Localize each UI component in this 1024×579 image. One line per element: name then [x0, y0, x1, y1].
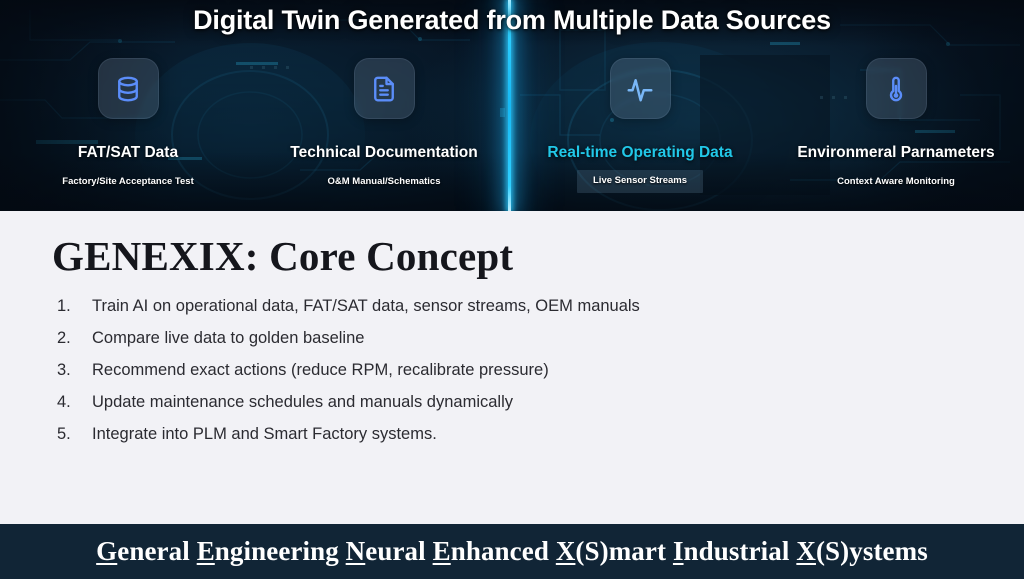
hero-title: Digital Twin Generated from Multiple Dat…	[0, 5, 1024, 36]
thermometer-icon	[866, 58, 927, 119]
database-icon	[98, 58, 159, 119]
card-title: Environmeral Parnameters	[797, 144, 994, 162]
list-item: 4. Update maintenance schedules and manu…	[52, 393, 952, 425]
pulse-waveform-icon	[610, 58, 671, 119]
list-item-number: 5.	[52, 425, 92, 444]
card-subtitle: O&M Manual/Schematics	[319, 173, 450, 190]
list-item-text: Integrate into PLM and Smart Factory sys…	[92, 425, 437, 444]
list-item: 1. Train AI on operational data, FAT/SAT…	[52, 297, 952, 329]
list-item-text: Train AI on operational data, FAT/SAT da…	[92, 297, 640, 316]
slide-root: Digital Twin Generated from Multiple Dat…	[0, 0, 1024, 579]
list-item: 5. Integrate into PLM and Smart Factory …	[52, 425, 952, 457]
list-item: 3. Recommend exact actions (reduce RPM, …	[52, 361, 952, 393]
list-item-text: Recommend exact actions (reduce RPM, rec…	[92, 361, 549, 380]
list-item-text: Update maintenance schedules and manuals…	[92, 393, 513, 412]
data-source-card-technical-documentation[interactable]: Technical Documentation O&M Manual/Schem…	[256, 58, 512, 193]
list-item-number: 4.	[52, 393, 92, 412]
data-source-card-realtime-operating-data[interactable]: Real-time Operating Data Live Sensor Str…	[512, 58, 768, 193]
concept-step-list: 1. Train AI on operational data, FAT/SAT…	[52, 297, 952, 457]
list-item-number: 1.	[52, 297, 92, 316]
list-item-number: 3.	[52, 361, 92, 380]
card-subtitle: Context Aware Monitoring	[828, 173, 964, 190]
data-source-card-environmental-parameters[interactable]: Environmeral Parnameters Context Aware M…	[768, 58, 1024, 193]
list-item: 2. Compare live data to golden baseline	[52, 329, 952, 361]
document-icon	[354, 58, 415, 119]
page-title: GENEXIX: Core Concept	[52, 232, 513, 280]
footer-banner: General Engineering Neural Enhanced X(S)…	[0, 524, 1024, 579]
card-subtitle: Factory/Site Acceptance Test	[53, 173, 202, 190]
card-title: FAT/SAT Data	[78, 144, 178, 162]
main-content: GENEXIX: Core Concept 1. Train AI on ope…	[0, 211, 1024, 524]
footer-acronym-text: General Engineering Neural Enhanced X(S)…	[96, 536, 928, 567]
hero-banner: Digital Twin Generated from Multiple Dat…	[0, 0, 1024, 211]
card-subtitle: Live Sensor Streams	[577, 170, 703, 193]
data-source-card-fat-sat[interactable]: FAT/SAT Data Factory/Site Acceptance Tes…	[0, 58, 256, 193]
data-source-card-row: FAT/SAT Data Factory/Site Acceptance Tes…	[0, 58, 1024, 193]
list-item-text: Compare live data to golden baseline	[92, 329, 364, 348]
card-title: Technical Documentation	[290, 144, 477, 162]
card-title: Real-time Operating Data	[547, 144, 732, 162]
list-item-number: 2.	[52, 329, 92, 348]
